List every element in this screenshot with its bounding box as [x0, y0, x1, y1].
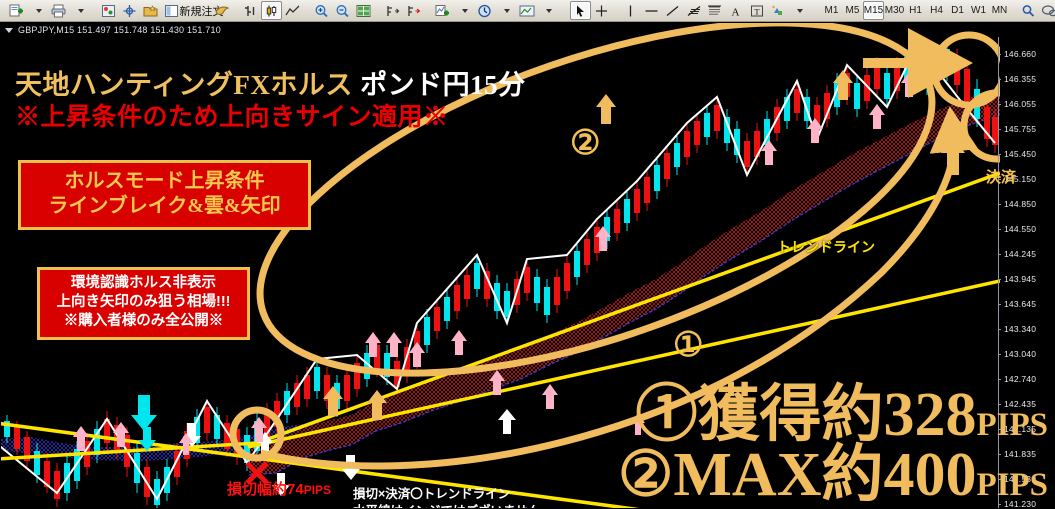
- result-line-2: ②MAX約400PIPS: [618, 445, 1048, 506]
- templates-dropdown-icon[interactable]: [516, 1, 537, 20]
- marker-2-label: ②: [570, 123, 600, 163]
- trendline-label-right: トレンドライン: [777, 237, 875, 257]
- stop-loss-note-main: 損切幅約74: [227, 481, 304, 498]
- notice-callout-box: 環境認識ホルス非表示 上向き矢印のみ狙う相場!!! ※購入者様のみ全公開※: [37, 267, 250, 340]
- result-line-2-main: ②MAX約400: [618, 441, 977, 509]
- price-tick: 146.355: [998, 74, 1036, 84]
- trendline-icon[interactable]: [662, 1, 683, 20]
- price-tick: 144.850: [998, 199, 1036, 209]
- chat-icon[interactable]: [1039, 1, 1055, 20]
- fibonacci-icon[interactable]: [683, 1, 704, 20]
- candlestick-chart-icon[interactable]: [261, 1, 282, 20]
- timeframe-m1[interactable]: M1: [821, 1, 842, 20]
- marker-1-label: ①: [673, 325, 703, 365]
- zoom-out-icon[interactable]: [332, 1, 353, 20]
- chart-menu-caret-icon[interactable]: [5, 28, 13, 33]
- period-dropdown-icon[interactable]: [495, 1, 516, 20]
- price-tick: 144.550: [998, 224, 1036, 234]
- print-dropdown-icon[interactable]: [69, 1, 90, 20]
- condition-callout-box: ホルスモード上昇条件 ラインブレイク&雲&矢印: [18, 160, 311, 230]
- new-chart-dropdown-icon[interactable]: [27, 1, 48, 20]
- price-tick: 142.740: [998, 374, 1036, 384]
- price-tick: 146.055: [998, 99, 1036, 109]
- svg-text:T: T: [754, 6, 760, 16]
- price-tick: 145.450: [998, 149, 1036, 159]
- shapes-dropdown-icon[interactable]: [788, 1, 809, 20]
- exit-label: 決済: [986, 166, 1016, 187]
- result-line-1-main: ①獲得約328: [635, 381, 976, 449]
- bar-chart-icon[interactable]: [240, 1, 261, 20]
- svg-text:A: A: [732, 6, 740, 18]
- tile-windows-icon[interactable]: [353, 1, 374, 20]
- title-gold-text: 天地ハンティングFXホルス: [15, 70, 353, 100]
- condition-line-2: ラインブレイク&雲&矢印: [29, 194, 300, 219]
- expert-advisors-icon[interactable]: [211, 1, 232, 20]
- crosshair-icon[interactable]: [591, 1, 612, 20]
- legend-line-1: 損切×決済〇トレンドライン: [353, 486, 540, 503]
- price-tick: 144.245: [998, 249, 1036, 259]
- shift-indicator-icon[interactable]: [382, 1, 403, 20]
- auto-scroll-icon[interactable]: [403, 1, 424, 20]
- chart-symbol-info: GBPJPY,M15 151.497 151.748 151.430 151.7…: [18, 25, 221, 35]
- crosshair-target-icon[interactable]: [119, 1, 140, 20]
- line-chart-icon[interactable]: [282, 1, 303, 20]
- timeframe-m30[interactable]: M30: [884, 1, 905, 20]
- result-line-1: ①獲得約328PIPS: [618, 385, 1048, 446]
- notice-line-1: 環境認識ホルス非表示: [46, 274, 241, 293]
- price-tick: 145.755: [998, 124, 1036, 134]
- channel-icon[interactable]: [704, 1, 725, 20]
- new-order-button[interactable]: 新規注文: [190, 1, 211, 20]
- chart-symbol-bar: GBPJPY,M15 151.497 151.748 151.430 151.7…: [1, 23, 1054, 37]
- stop-loss-note-unit: PIPS: [304, 483, 331, 497]
- chart-properties-icon[interactable]: [98, 1, 119, 20]
- indicators-dropdown-icon[interactable]: [453, 1, 474, 20]
- print-icon[interactable]: [48, 1, 69, 20]
- new-chart-icon[interactable]: [6, 1, 27, 20]
- indicators-icon[interactable]: [432, 1, 453, 20]
- result-line-1-unit: PIPS: [976, 407, 1048, 443]
- templates-icon[interactable]: [140, 1, 161, 20]
- price-tick: 143.040: [998, 349, 1036, 359]
- timeframe-mn[interactable]: MN: [989, 1, 1010, 20]
- horizontal-line-icon[interactable]: [641, 1, 662, 20]
- chart-canvas[interactable]: GBPJPY,M15 151.497 151.748 151.430 151.7…: [0, 22, 1055, 509]
- timeframe-h1[interactable]: H1: [905, 1, 926, 20]
- vertical-line-icon[interactable]: [620, 1, 641, 20]
- period-icon[interactable]: [474, 1, 495, 20]
- shapes-icon[interactable]: [767, 1, 788, 20]
- timeframe-d1[interactable]: D1: [947, 1, 968, 20]
- zoom-in-icon[interactable]: [311, 1, 332, 20]
- condition-line-1: ホルスモード上昇条件: [29, 169, 300, 194]
- timeframe-h4[interactable]: H4: [926, 1, 947, 20]
- price-tick: 143.340: [998, 324, 1036, 334]
- text-label-icon[interactable]: T: [746, 1, 767, 20]
- legend-line-2: 水平線はインジではございません: [353, 503, 540, 509]
- legend-note: 損切×決済〇トレンドライン 水平線はインジではございません: [353, 486, 540, 509]
- price-tick: 146.660: [998, 49, 1036, 59]
- result-summary: ①獲得約328PIPS ②MAX約400PIPS: [618, 385, 1048, 507]
- price-tick: 143.645: [998, 299, 1036, 309]
- search-icon[interactable]: [1018, 1, 1039, 20]
- subtitle: ※上昇条件のため上向きサイン適用※: [15, 97, 449, 133]
- cursor-icon[interactable]: [570, 1, 591, 20]
- notice-line-2: 上向き矢印のみ狙う相場!!!: [46, 293, 241, 312]
- result-line-2-unit: PIPS: [976, 467, 1048, 503]
- templates-dropdown-caret-icon[interactable]: [537, 1, 558, 20]
- timeframe-w1[interactable]: W1: [968, 1, 989, 20]
- text-icon[interactable]: A: [725, 1, 746, 20]
- notice-line-3: ※購入者様のみ全公開※: [46, 312, 241, 331]
- title-white-text: ポンド円15分: [353, 70, 526, 100]
- main-toolbar: 新規注文: [0, 0, 1055, 22]
- metatrader-window: 新規注文: [0, 0, 1055, 509]
- price-tick: 143.945: [998, 274, 1036, 284]
- stop-loss-note: 損切幅約74PIPS: [227, 478, 331, 499]
